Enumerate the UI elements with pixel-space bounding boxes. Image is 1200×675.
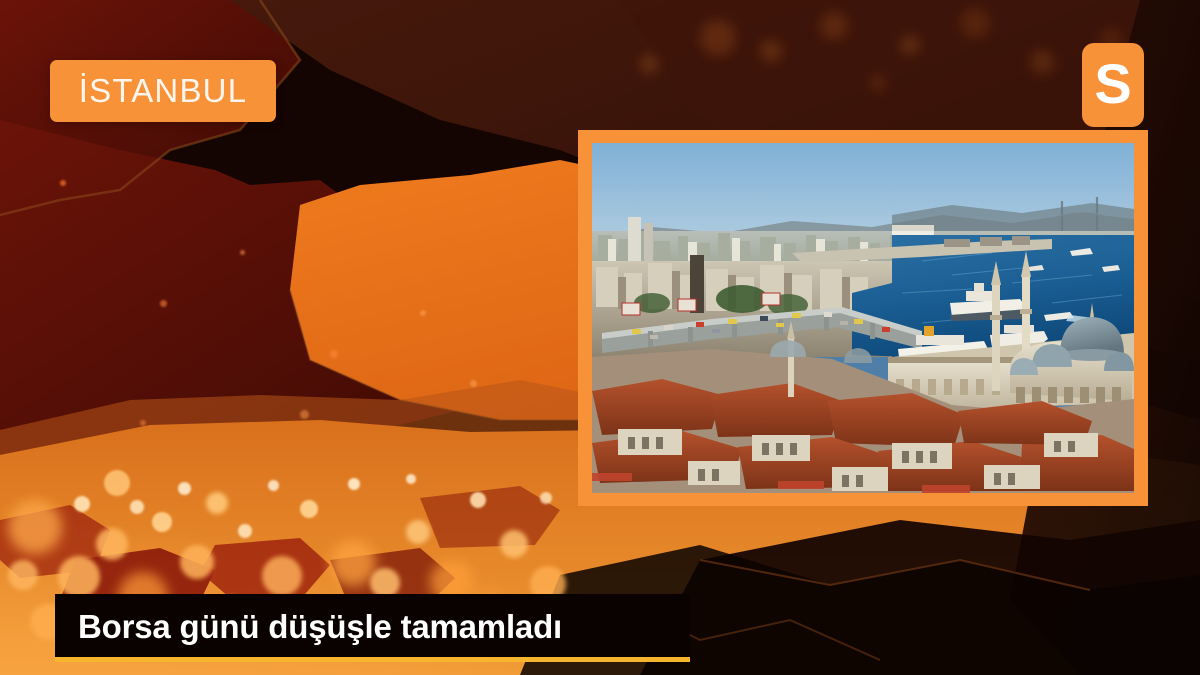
headline-text: Borsa günü düşüşle tamamladı [55, 610, 562, 643]
istanbul-photo [592, 143, 1134, 493]
city-badge: İSTANBUL [50, 60, 276, 122]
news-card: İSTANBUL S [0, 0, 1200, 675]
headline-bar: Borsa günü düşüşle tamamladı [55, 594, 690, 658]
photo-frame [578, 130, 1148, 506]
city-badge-label: İSTANBUL [79, 74, 248, 109]
brand-logo-letter: S [1094, 56, 1131, 115]
headline-underline [55, 657, 690, 662]
brand-logo[interactable]: S [1082, 43, 1144, 127]
